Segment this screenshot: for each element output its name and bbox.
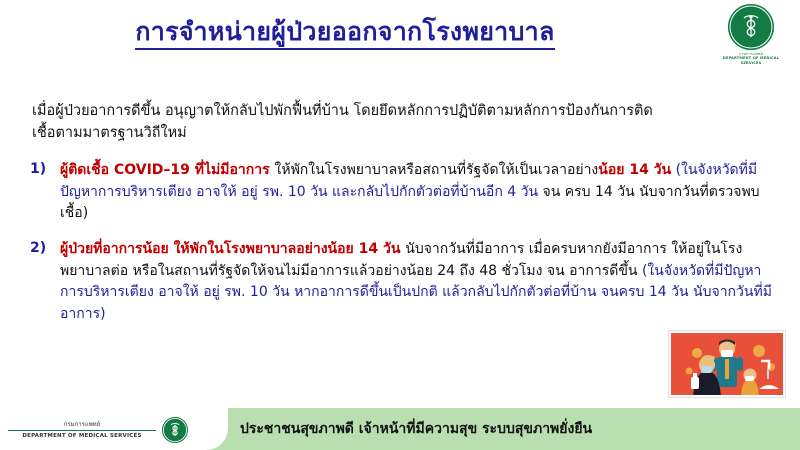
list-item-marker: 1) (30, 160, 60, 177)
footer-thai-org: กรมการแพทย์ (8, 421, 156, 428)
list-item: 1) ผู้ติดเชื้อ COVID–19 ที่ไม่มีอาการ ให… (30, 160, 775, 225)
footer-organization-logo: กรมการแพทย์ DEPARTMENT OF MEDICAL SERVIC… (8, 417, 218, 443)
slide-canvas: การจำหน่ายผู้ป่วยออกจากโรงพยาบาล กรมการแ… (0, 0, 800, 450)
caduceus-icon (728, 4, 774, 50)
list-item: 2) ผู้ป่วยที่อาการน้อย ให้พักในโรงพยาบาล… (30, 239, 775, 326)
page-title-container: การจำหน่ายผู้ป่วยออกจากโรงพยาบาล (0, 18, 690, 50)
text-segment: ผู้ป่วยที่อาการน้อย ให้พักในโรงพยาบาลอย่… (60, 241, 405, 257)
covid-prevention-illustration (668, 330, 786, 398)
footer-slogan: ประชาชนสุขภาพดี เจ้าหน้าที่มีความสุข ระบ… (240, 408, 780, 450)
list-item-marker: 2) (30, 239, 60, 256)
text-segment: น้อย 14 วัน (598, 162, 671, 178)
list-item-body: ผู้ติดเชื้อ COVID–19 ที่ไม่มีอาการ ให้พั… (60, 160, 775, 225)
text-segment: ผู้ติดเชื้อ COVID–19 ที่ไม่มีอาการ (60, 162, 275, 178)
illustration-canvas (671, 333, 783, 395)
footer-bar: กรมการแพทย์ DEPARTMENT OF MEDICAL SERVIC… (0, 408, 800, 450)
intro-line-2: เชื้อตามมาตรฐานวิถีใหม่ (32, 122, 732, 144)
list-item-body: ผู้ป่วยที่อาการน้อย ให้พักในโรงพยาบาลอย่… (60, 239, 775, 326)
intro-paragraph: เมื่อผู้ป่วยอาการดีขึ้น อนุญาตให้กลับไปพ… (32, 100, 732, 145)
text-segment: ให้พักในโรงพยาบาลหรือสถานที่รัฐจัดให้เป็… (275, 162, 599, 178)
footer-logo-panel: กรมการแพทย์ DEPARTMENT OF MEDICAL SERVIC… (0, 408, 228, 450)
footer-divider (8, 430, 156, 432)
intro-line-1: เมื่อผู้ป่วยอาการดีขึ้น อนุญาตให้กลับไปพ… (32, 100, 732, 122)
ministry-seal-top: กรมการแพทย์ DEPARTMENT OF MEDICAL SERVIC… (720, 4, 782, 65)
page-title: การจำหน่ายผู้ป่วยออกจากโรงพยาบาล (135, 18, 554, 50)
footer-english-org: DEPARTMENT OF MEDICAL SERVICES (8, 433, 156, 440)
discharge-criteria-list: 1) ผู้ติดเชื้อ COVID–19 ที่ไม่มีอาการ ให… (30, 160, 775, 340)
footer-logo-text: กรมการแพทย์ DEPARTMENT OF MEDICAL SERVIC… (8, 421, 156, 439)
seal-english-caption: DEPARTMENT OF MEDICAL SERVICES (720, 56, 782, 65)
caduceus-icon (162, 417, 188, 443)
